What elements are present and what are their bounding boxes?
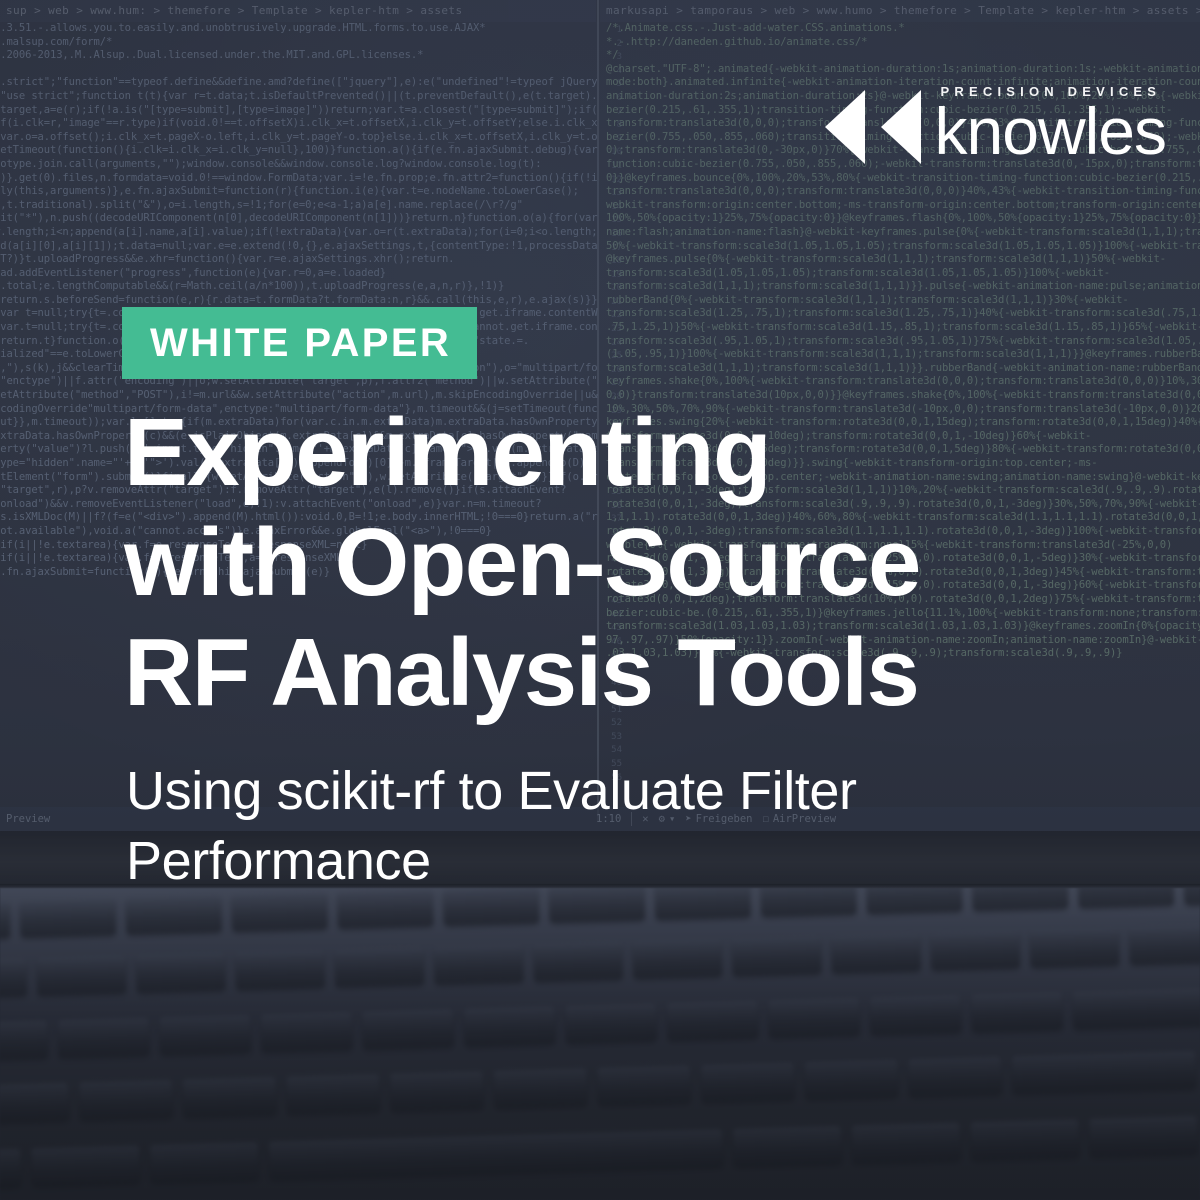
chevron-left-icon-2 xyxy=(881,90,921,164)
title-line-2: with Open-Source xyxy=(124,508,1134,618)
knowles-logo: PRECISION DEVICES knowles xyxy=(825,86,1166,164)
page-subtitle: Using scikit-rf to Evaluate Filter Perfo… xyxy=(126,756,1136,896)
double-chevron-left-icon xyxy=(825,90,925,164)
logo-tagline: PRECISION DEVICES xyxy=(941,84,1162,99)
white-paper-cover: sup > web > www.hum: > themefore > Templ… xyxy=(0,0,1200,1200)
cover-content: PRECISION DEVICES knowles WHITE PAPER Ex… xyxy=(0,0,1200,1200)
document-type-badge: WHITE PAPER xyxy=(122,307,477,379)
subtitle-line-1: Using scikit-rf to Evaluate Filter xyxy=(126,756,1136,826)
title-line-3: RF Analysis Tools xyxy=(124,618,1134,728)
chevron-left-icon-1 xyxy=(825,90,865,164)
knowles-wordmark-group: PRECISION DEVICES knowles xyxy=(935,86,1166,164)
title-line-1: Experimenting xyxy=(124,398,1134,508)
subtitle-line-2: Performance xyxy=(126,826,1136,896)
page-title: Experimenting with Open-Source RF Analys… xyxy=(124,398,1134,728)
document-type-label: WHITE PAPER xyxy=(150,323,451,363)
